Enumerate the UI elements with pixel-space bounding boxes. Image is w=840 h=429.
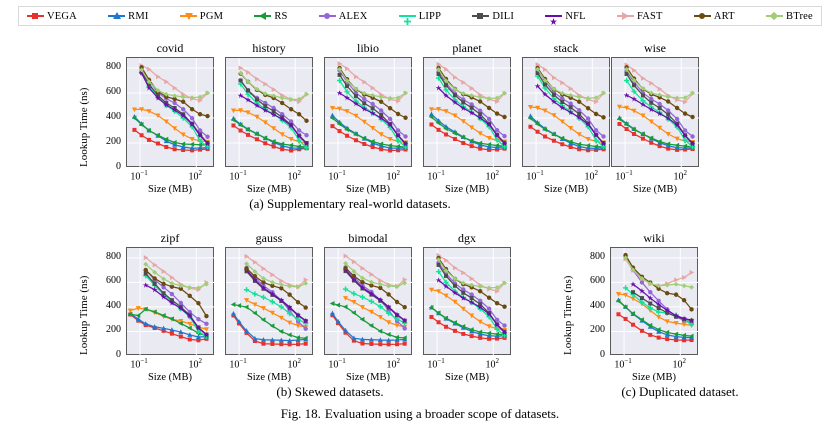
legend-label: NFL: [565, 11, 585, 22]
xtick-label: 10−1: [123, 169, 155, 182]
xaxis-label-stack: Size (MB): [522, 184, 610, 195]
ytick-label: 200: [95, 324, 121, 335]
legend-marker-diamond-icon: [766, 11, 783, 21]
xaxis-label-history: Size (MB): [225, 184, 313, 195]
ytick-label: 200: [95, 136, 121, 147]
xaxis-label-bimodal: Size (MB): [324, 372, 412, 383]
legend-entry-dili[interactable]: DILI: [472, 11, 514, 22]
yaxis-label-covid: Lookup Time (ns): [78, 88, 90, 167]
xtick-label: 102: [278, 169, 310, 182]
subplot-title-wise: wise: [611, 41, 699, 56]
legend-label: RS: [274, 11, 287, 22]
subplot-title-bimodal: bimodal: [324, 231, 412, 246]
legend-entry-pgm[interactable]: PGM: [180, 11, 223, 22]
xtick-label: 102: [377, 169, 409, 182]
plot-area-bimodal: [324, 247, 412, 355]
ytick-label: 400: [95, 300, 121, 311]
xaxis-label-planet: Size (MB): [423, 184, 511, 195]
figure-caption-text: Evaluation using a broader scope of data…: [325, 406, 559, 421]
plot-area-zipf: [126, 247, 214, 355]
ytick-label: 800: [95, 251, 121, 262]
subplot-bimodal: bimodal10−1102Size (MB): [324, 247, 412, 355]
subplot-wiki: wiki10−1102Size (MB)0200400600800Lookup …: [610, 247, 698, 355]
yaxis-label-zipf: Lookup Time (ns): [78, 276, 90, 355]
legend-label: VEGA: [47, 11, 77, 22]
subplot-title-wiki: wiki: [610, 231, 698, 246]
subcaption-a: (a) Supplementary real-world datasets.: [120, 196, 580, 212]
legend-label: LIPP: [419, 11, 441, 22]
subplot-covid: covid10−1102Size (MB)0200400600800Lookup…: [126, 57, 214, 167]
xtick-label: 10−1: [123, 357, 155, 370]
ytick-label: 600: [95, 86, 121, 97]
legend-label: ART: [714, 11, 735, 22]
subplot-history: history10−1102Size (MB): [225, 57, 313, 167]
xaxis-label-dgx: Size (MB): [423, 372, 511, 383]
xaxis-label-wise: Size (MB): [611, 184, 699, 195]
legend-entry-lipp[interactable]: LIPP: [399, 11, 441, 22]
legend-entry-art[interactable]: ART: [694, 11, 735, 22]
legend-entry-rmi[interactable]: RMI: [108, 11, 148, 22]
legend-label: ALEX: [339, 11, 368, 22]
ytick-label: 0: [95, 161, 121, 172]
subplot-dgx: dgx10−1102Size (MB): [423, 247, 511, 355]
xtick-label: 102: [663, 357, 695, 370]
subplot-title-gauss: gauss: [225, 231, 313, 246]
plot-area-dgx: [423, 247, 511, 355]
xtick-label: 10−1: [607, 357, 639, 370]
subplot-title-zipf: zipf: [126, 231, 214, 246]
xtick-label: 102: [179, 169, 211, 182]
xtick-label: 10−1: [222, 169, 254, 182]
subplot-stack: stack10−1102Size (MB): [522, 57, 610, 167]
xtick-label: 102: [476, 357, 508, 370]
legend-marker-circle-icon: [319, 11, 336, 21]
figure-18: VEGARMIPGMRSALEXLIPPDILINFLFASTARTBTree …: [0, 0, 840, 429]
chart-legend: VEGARMIPGMRSALEXLIPPDILINFLFASTARTBTree: [18, 6, 822, 26]
legend-entry-btree[interactable]: BTree: [766, 11, 813, 22]
xtick-label: 10−1: [222, 357, 254, 370]
ytick-label: 400: [95, 111, 121, 122]
plot-area-wiki: [610, 247, 698, 355]
subplot-title-stack: stack: [522, 41, 610, 56]
subplot-title-history: history: [225, 41, 313, 56]
legend-label: PGM: [200, 11, 223, 22]
subcaption-b: (b) Skewed datasets.: [130, 384, 530, 400]
yaxis-label-wiki: Lookup Time (ns): [562, 276, 574, 355]
ytick-label: 0: [579, 349, 605, 360]
subplot-gauss: gauss10−1102Size (MB): [225, 247, 313, 355]
xtick-label: 102: [476, 169, 508, 182]
ytick-label: 800: [95, 61, 121, 72]
subcaption-c: (c) Duplicated dataset.: [540, 384, 820, 400]
ytick-label: 200: [579, 324, 605, 335]
figure-caption: Fig. 18.Evaluation using a broader scope…: [0, 406, 840, 422]
xtick-label: 102: [664, 169, 696, 182]
subplot-wise: wise10−1102Size (MB): [611, 57, 699, 167]
subplot-zipf: zipf10−1102Size (MB)0200400600800Lookup …: [126, 247, 214, 355]
legend-label: RMI: [128, 11, 148, 22]
subplot-title-planet: planet: [423, 41, 511, 56]
xtick-label: 10−1: [608, 169, 640, 182]
xtick-label: 10−1: [321, 357, 353, 370]
legend-entry-fast[interactable]: FAST: [617, 11, 663, 22]
legend-label: DILI: [492, 11, 514, 22]
legend-entry-rs[interactable]: RS: [254, 11, 287, 22]
legend-marker-triangle-down-icon: [180, 11, 197, 21]
plot-area-stack: [522, 57, 610, 167]
legend-label: BTree: [786, 11, 813, 22]
figure-number: Fig. 18.: [281, 406, 321, 421]
plot-area-gauss: [225, 247, 313, 355]
xaxis-label-wiki: Size (MB): [610, 372, 698, 383]
ytick-label: 800: [579, 251, 605, 262]
ytick-label: 0: [95, 349, 121, 360]
ytick-label: 600: [95, 275, 121, 286]
ytick-label: 400: [579, 300, 605, 311]
legend-marker-square-icon: [27, 11, 44, 21]
subplot-title-dgx: dgx: [423, 231, 511, 246]
legend-label: FAST: [637, 11, 663, 22]
ytick-label: 600: [579, 275, 605, 286]
legend-marker-star-icon: [545, 11, 562, 21]
plot-area-wise: [611, 57, 699, 167]
xtick-label: 102: [278, 357, 310, 370]
legend-marker-square-icon: [472, 11, 489, 21]
xtick-label: 10−1: [420, 357, 452, 370]
subplot-title-covid: covid: [126, 41, 214, 56]
xtick-label: 102: [575, 169, 607, 182]
legend-marker-triangle-up-icon: [108, 11, 125, 21]
legend-marker-triangle-left-icon: [254, 11, 271, 21]
xtick-label: 10−1: [519, 169, 551, 182]
xtick-label: 10−1: [420, 169, 452, 182]
xtick-label: 102: [377, 357, 409, 370]
plot-area-libio: [324, 57, 412, 167]
plot-area-covid: [126, 57, 214, 167]
legend-marker-plus-icon: [399, 11, 416, 21]
xtick-label: 102: [179, 357, 211, 370]
plot-area-history: [225, 57, 313, 167]
subplot-planet: planet10−1102Size (MB): [423, 57, 511, 167]
legend-entry-alex[interactable]: ALEX: [319, 11, 368, 22]
legend-entry-vega[interactable]: VEGA: [27, 11, 77, 22]
xaxis-label-covid: Size (MB): [126, 184, 214, 195]
plot-area-planet: [423, 57, 511, 167]
legend-marker-triangle-right-icon: [617, 11, 634, 21]
xtick-label: 10−1: [321, 169, 353, 182]
legend-entry-nfl[interactable]: NFL: [545, 11, 585, 22]
subplot-title-libio: libio: [324, 41, 412, 56]
xaxis-label-zipf: Size (MB): [126, 372, 214, 383]
legend-marker-circle-icon: [694, 11, 711, 21]
xaxis-label-gauss: Size (MB): [225, 372, 313, 383]
subplot-libio: libio10−1102Size (MB): [324, 57, 412, 167]
xaxis-label-libio: Size (MB): [324, 184, 412, 195]
